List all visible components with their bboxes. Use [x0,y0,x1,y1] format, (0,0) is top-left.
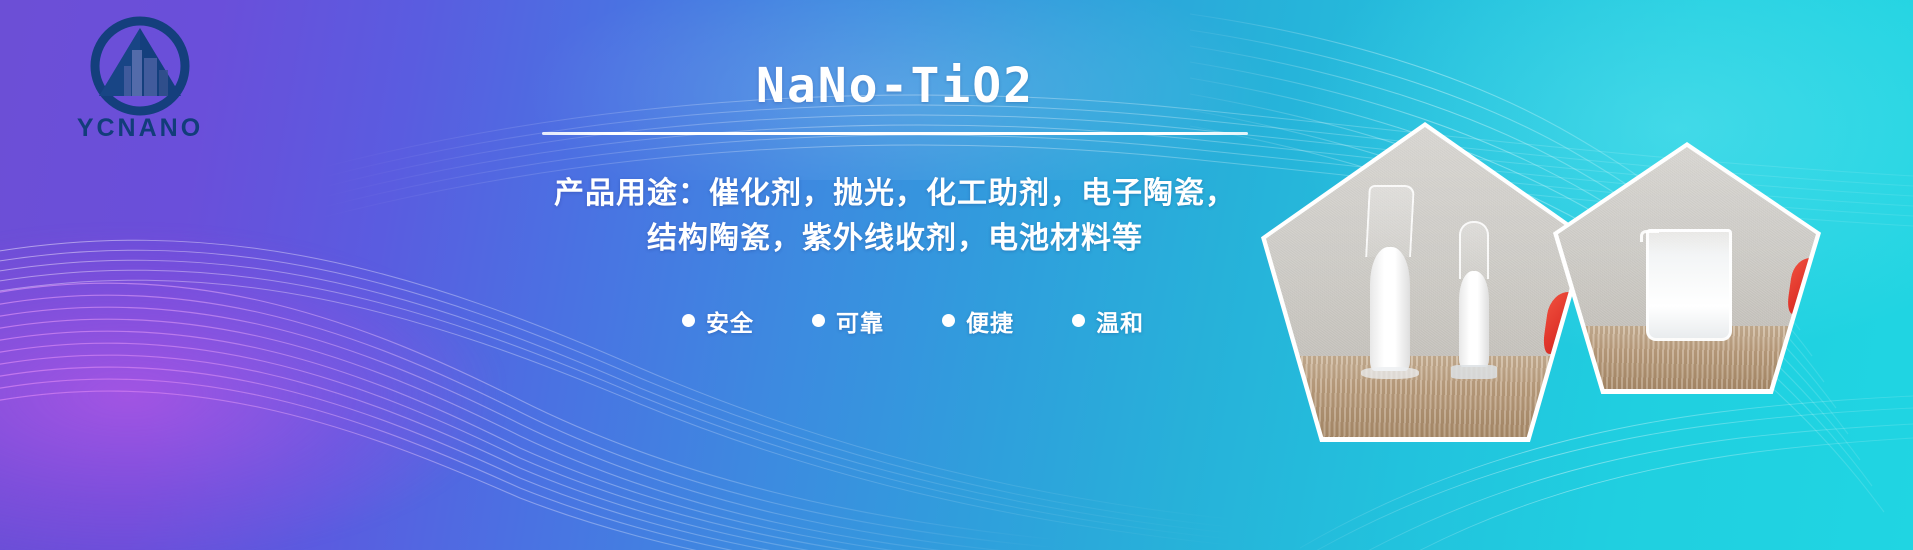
brand-wordmark: YCNANO [48,114,232,143]
photo-alt-text: 两只白色玻璃花瓶与红辣椒 [1261,122,1262,123]
product-photo-vases: 两只白色玻璃花瓶与红辣椒 [1261,122,1589,442]
feature-label: 可靠 [836,304,884,338]
photo-alt-text: 装有白色液体的烧杯与红辣椒 [1553,142,1554,143]
bullet-dot-icon [942,314,955,327]
ycnano-circle-triangle-logo-icon [85,14,195,118]
product-photo-beaker: 装有白色液体的烧杯与红辣椒 [1553,142,1821,394]
bullet-dot-icon [1072,314,1085,327]
feature-item-reliable: 可靠 [812,304,884,338]
bullet-dot-icon [812,314,825,327]
feature-item-safe: 安全 [682,304,754,338]
brand-logo: YCNANO [48,14,232,149]
feature-item-convenient: 便捷 [942,304,1014,338]
white-vase-short [1444,221,1504,375]
white-vase-tall [1352,185,1428,375]
feature-label: 安全 [706,304,754,338]
promo-banner: YCNANO NaNo-TiO2 产品用途：催化剂，抛光，化工助剂，电子陶瓷， … [0,0,1913,550]
product-photos: 两只白色玻璃花瓶与红辣椒 装有白色液体的烧杯与红辣椒 [1133,0,1913,550]
feature-label: 便捷 [966,304,1014,338]
magenta-glow [0,230,500,550]
bullet-dot-icon [682,314,695,327]
beaker-with-white-liquid [1646,229,1732,341]
